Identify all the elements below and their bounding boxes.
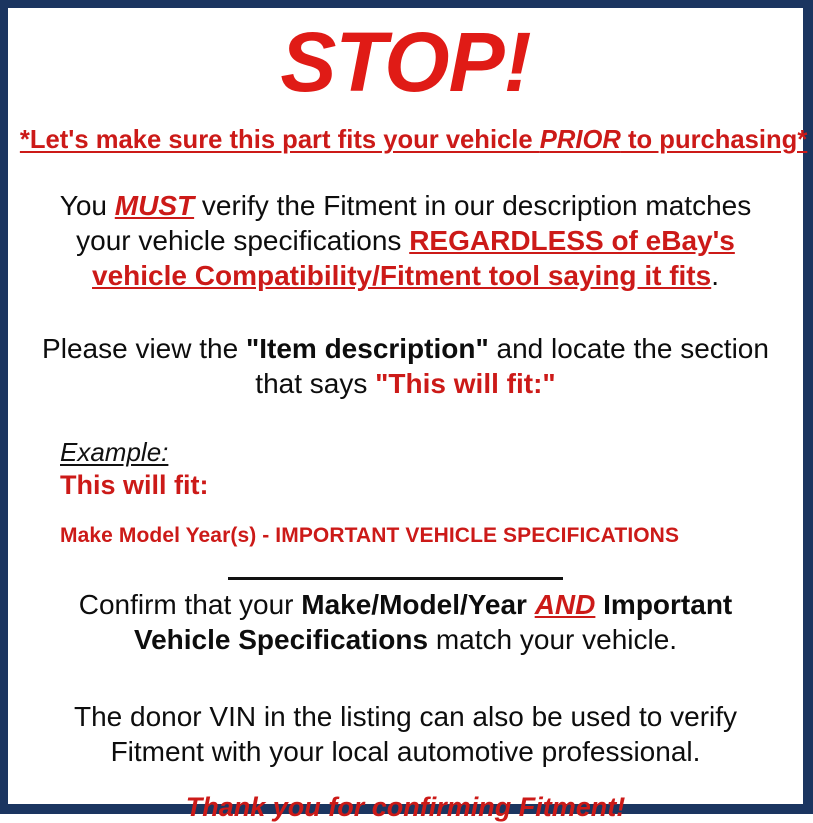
banner-emphasis-prior: PRIOR: [540, 124, 621, 154]
closing-thank-you: Thank you for confirming Fitment!: [14, 791, 797, 823]
example-label-wrap: Example:: [60, 437, 797, 467]
emphasis-this-will-fit: "This will fit:": [375, 368, 556, 399]
example-label: Example:: [60, 437, 168, 467]
view-part-1: Please view the: [42, 333, 246, 364]
emphasis-and: AND: [535, 589, 596, 620]
paragraph-confirm-match: Confirm that your Make/Model/Year AND Im…: [14, 587, 797, 657]
example-block: Example: This will fit: Make Model Year(…: [14, 437, 797, 549]
confirm-part-1: Confirm that your: [79, 589, 302, 620]
horizontal-divider: [228, 577, 563, 580]
banner-warning-line: *Let's make sure this part fits your veh…: [20, 124, 791, 154]
confirm-part-3: [595, 589, 603, 620]
confirm-part-4: match your vehicle.: [428, 624, 677, 655]
paragraph-item-description: Please view the "Item description" and l…: [14, 331, 797, 401]
notice-content: STOP! *Let's make sure this part fits yo…: [8, 8, 803, 804]
paragraph-must-verify: You MUST verify the Fitment in our descr…: [14, 188, 797, 293]
example-spec-line: Make Model Year(s) - IMPORTANT VEHICLE S…: [60, 523, 797, 549]
must-part-1: You: [60, 190, 115, 221]
fitment-notice-card: STOP! *Let's make sure this part fits yo…: [0, 0, 813, 814]
divider-wrap: [14, 573, 797, 587]
confirm-part-2: [527, 589, 535, 620]
banner-prefix: *Let's make sure this part fits your veh…: [20, 124, 540, 154]
must-part-3: .: [711, 260, 719, 291]
emphasis-must: MUST: [115, 190, 194, 221]
emphasis-make-model-year: Make/Model/Year: [301, 589, 527, 620]
example-fit-heading: This will fit:: [60, 469, 797, 501]
banner-suffix: to purchasing*: [621, 124, 807, 154]
emphasis-item-description: "Item description": [246, 333, 489, 364]
page-title: STOP!: [14, 8, 797, 110]
paragraph-donor-vin: The donor VIN in the listing can also be…: [14, 699, 797, 769]
